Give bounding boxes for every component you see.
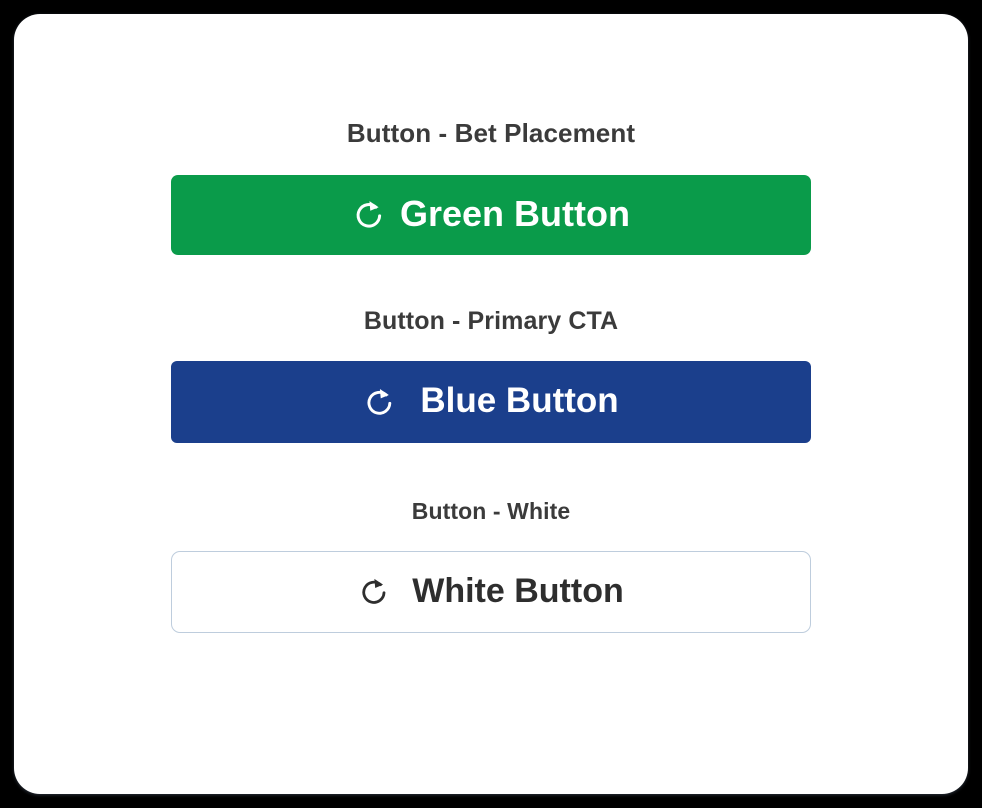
group-label-white: Button - White [412,500,571,523]
group-label-bet-placement: Button - Bet Placement [347,120,635,146]
button-group-white: Button - White White Button [14,500,968,633]
blue-button[interactable]: Blue Button [171,361,811,443]
green-button-label: Green Button [400,196,630,235]
device-frame: Button - Bet Placement Green Button Butt… [0,0,982,808]
component-showcase-card: Button - Bet Placement Green Button Butt… [14,14,968,794]
green-button[interactable]: Green Button [171,175,811,255]
button-variants-list: Button - Bet Placement Green Button Butt… [14,14,968,794]
button-group-primary-cta: Button - Primary CTA Blue Button [14,309,968,443]
rotate-right-icon [358,576,390,608]
button-group-bet-placement: Button - Bet Placement Green Button [14,120,968,255]
rotate-right-icon [363,386,396,419]
group-label-primary-cta: Button - Primary CTA [364,309,618,334]
rotate-right-icon [352,198,386,232]
white-button-label: White Button [412,574,624,611]
white-button[interactable]: White Button [171,551,811,633]
blue-button-label: Blue Button [420,383,618,421]
